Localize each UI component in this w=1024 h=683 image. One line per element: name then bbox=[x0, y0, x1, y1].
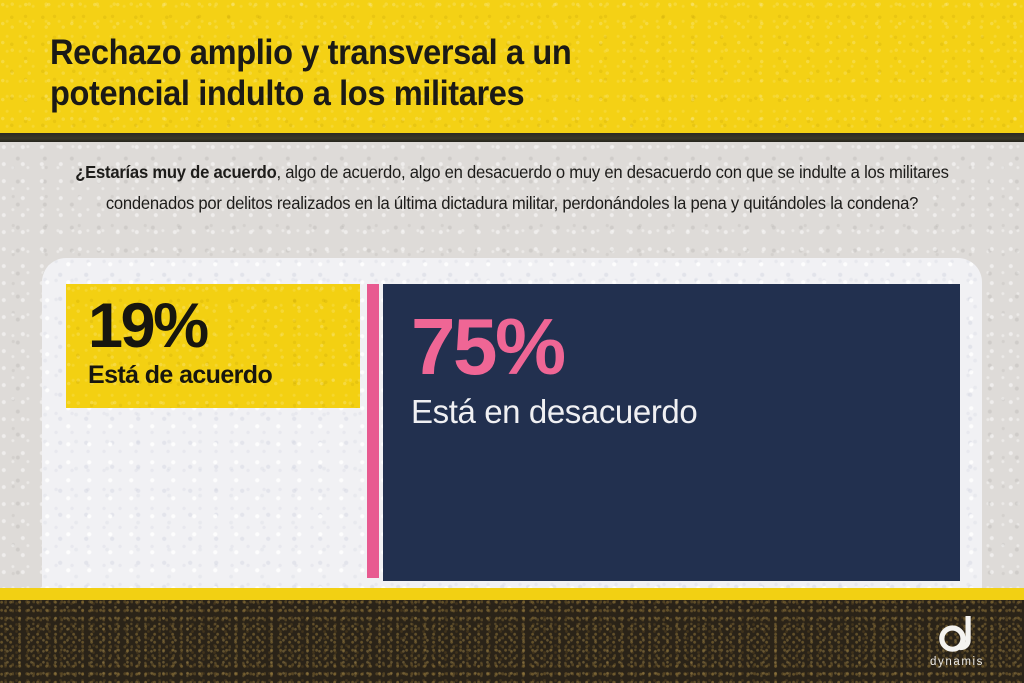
brand-logo: dynamis bbox=[918, 614, 996, 668]
stat-block-disagree: 75% Está en desacuerdo bbox=[383, 284, 960, 581]
footer-bar: dynamis bbox=[0, 600, 1024, 683]
page-title: Rechazo amplio y transversal a un potenc… bbox=[50, 32, 775, 114]
stat-disagree-value: 75% bbox=[411, 304, 697, 390]
survey-question-lead: ¿Estarías muy de acuerdo bbox=[75, 162, 276, 182]
brand-logo-wordmark: dynamis bbox=[918, 656, 996, 668]
header-banner: Rechazo amplio y transversal a un potenc… bbox=[0, 0, 1024, 133]
stat-block-agree: 19% Está de acuerdo bbox=[66, 284, 360, 408]
stat-disagree-content: 75% Está en desacuerdo bbox=[411, 304, 697, 434]
dynamis-d-monogram-icon bbox=[937, 614, 977, 652]
footer-accent-stripe bbox=[0, 588, 1024, 600]
stat-agree-content: 19% Está de acuerdo bbox=[88, 292, 272, 390]
infographic-poster: Rechazo amplio y transversal a un potenc… bbox=[0, 0, 1024, 683]
header-divider bbox=[0, 133, 1024, 142]
stat-disagree-label: Está en desacuerdo bbox=[411, 390, 697, 434]
stat-agree-label: Está de acuerdo bbox=[88, 360, 272, 390]
stat-agree-value: 19% bbox=[88, 292, 272, 360]
survey-question: ¿Estarías muy de acuerdo, algo de acuerd… bbox=[73, 157, 951, 219]
accent-bar bbox=[367, 284, 379, 578]
